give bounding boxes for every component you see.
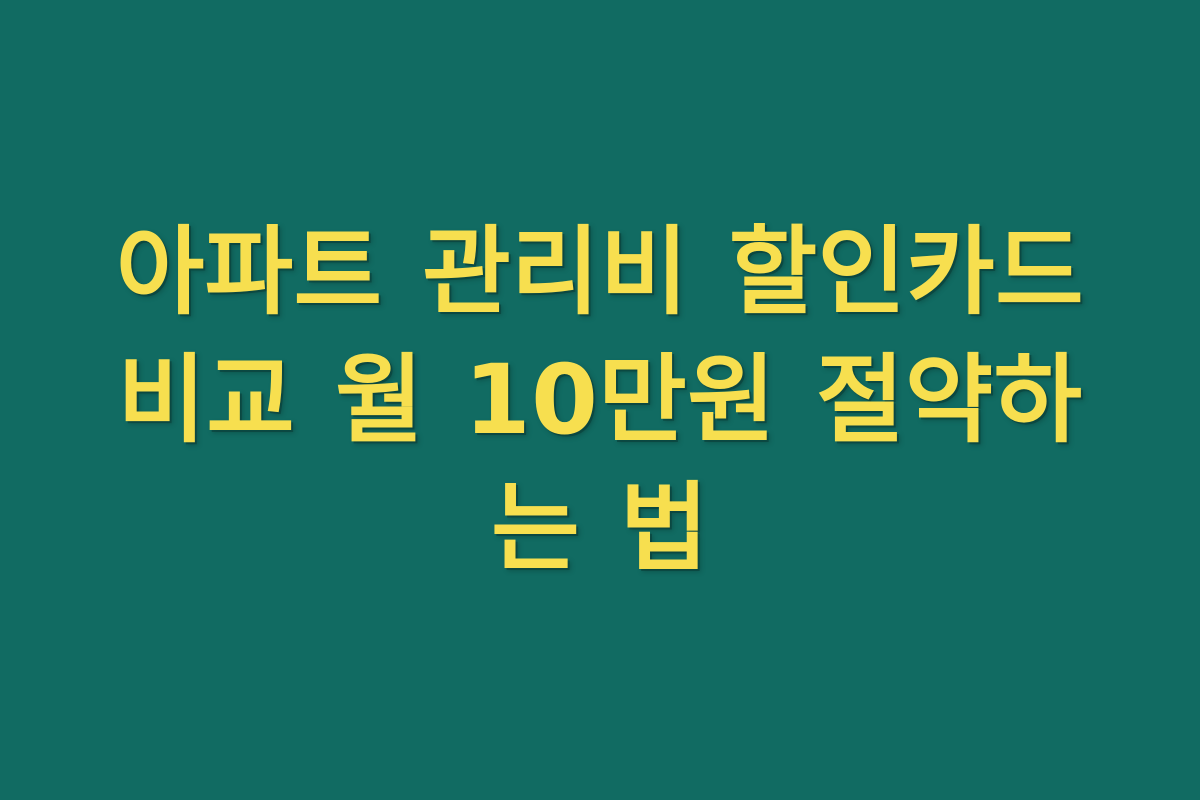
headline-title: 아파트 관리비 할인카드 비교 월 10만원 절약하 는 법 (90, 208, 1110, 592)
thumbnail-canvas: 아파트 관리비 할인카드 비교 월 10만원 절약하 는 법 (0, 0, 1200, 800)
headline-line-2: 비교 월 10만원 절약하 (90, 336, 1110, 464)
headline-line-1: 아파트 관리비 할인카드 (90, 208, 1110, 336)
headline-line-3: 는 법 (90, 464, 1110, 592)
